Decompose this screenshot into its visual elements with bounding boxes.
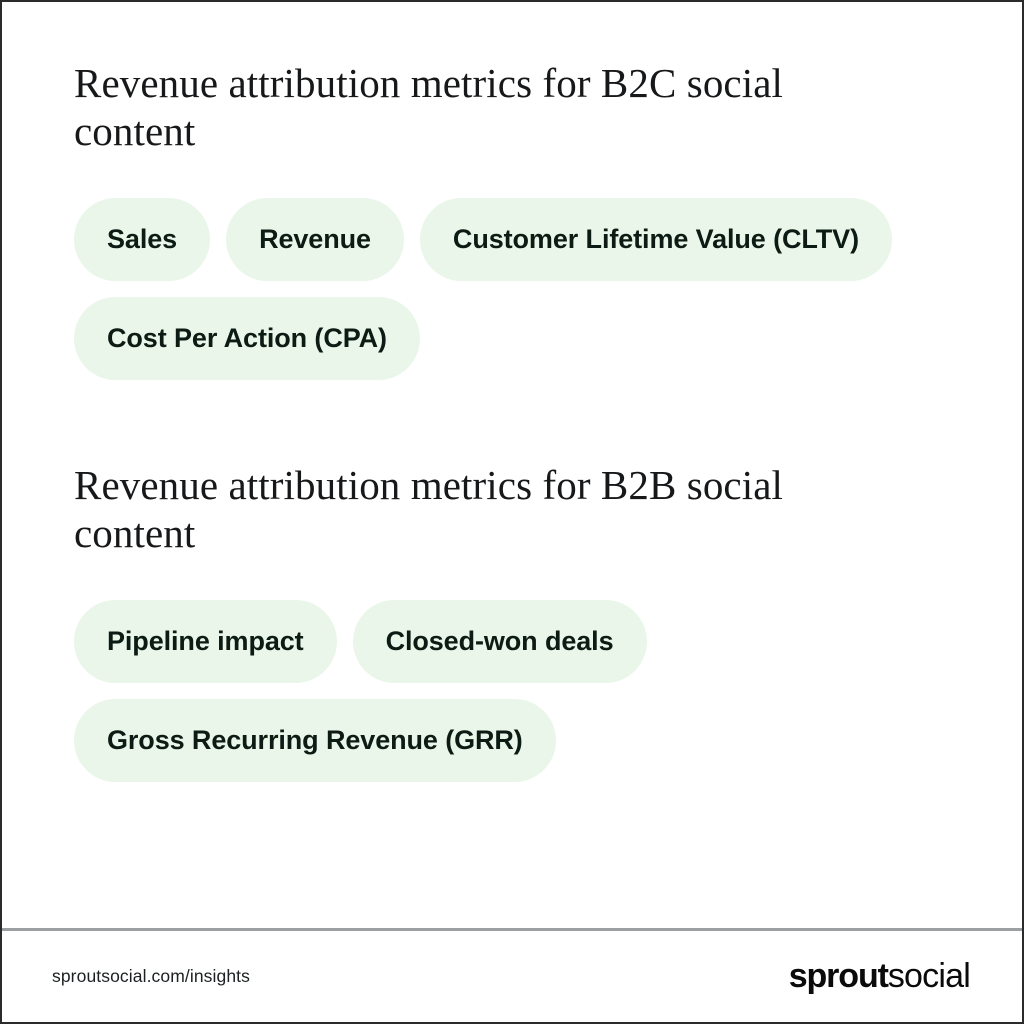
footer: sproutsocial.com/insights sprout social [2,931,1022,1022]
pill-revenue[interactable]: Revenue [226,198,404,281]
pill-closed-won-deals[interactable]: Closed-won deals [353,600,647,683]
section-heading-b2b: Revenue attribution metrics for B2B soci… [74,462,904,558]
pill-gross-recurring-revenue[interactable]: Gross Recurring Revenue (GRR) [74,699,556,782]
pill-group-b2c: Sales Revenue Customer Lifetime Value (C… [74,198,966,380]
infographic-canvas: Revenue attribution metrics for B2C soci… [0,0,1024,1024]
logo-word-social: social [888,957,970,996]
sprout-social-logo: sprout social [789,957,970,996]
footer-url[interactable]: sproutsocial.com/insights [52,966,250,987]
section-b2c: Revenue attribution metrics for B2C soci… [74,60,982,380]
section-b2b: Revenue attribution metrics for B2B soci… [74,462,982,782]
pill-customer-lifetime-value[interactable]: Customer Lifetime Value (CLTV) [420,198,892,281]
pill-cost-per-action[interactable]: Cost Per Action (CPA) [74,297,420,380]
pill-sales[interactable]: Sales [74,198,210,281]
logo-word-sprout: sprout [789,957,888,996]
pill-group-b2b: Pipeline impact Closed-won deals Gross R… [74,600,966,782]
content-area: Revenue attribution metrics for B2C soci… [2,2,1022,928]
section-heading-b2c: Revenue attribution metrics for B2C soci… [74,60,904,156]
pill-pipeline-impact[interactable]: Pipeline impact [74,600,337,683]
